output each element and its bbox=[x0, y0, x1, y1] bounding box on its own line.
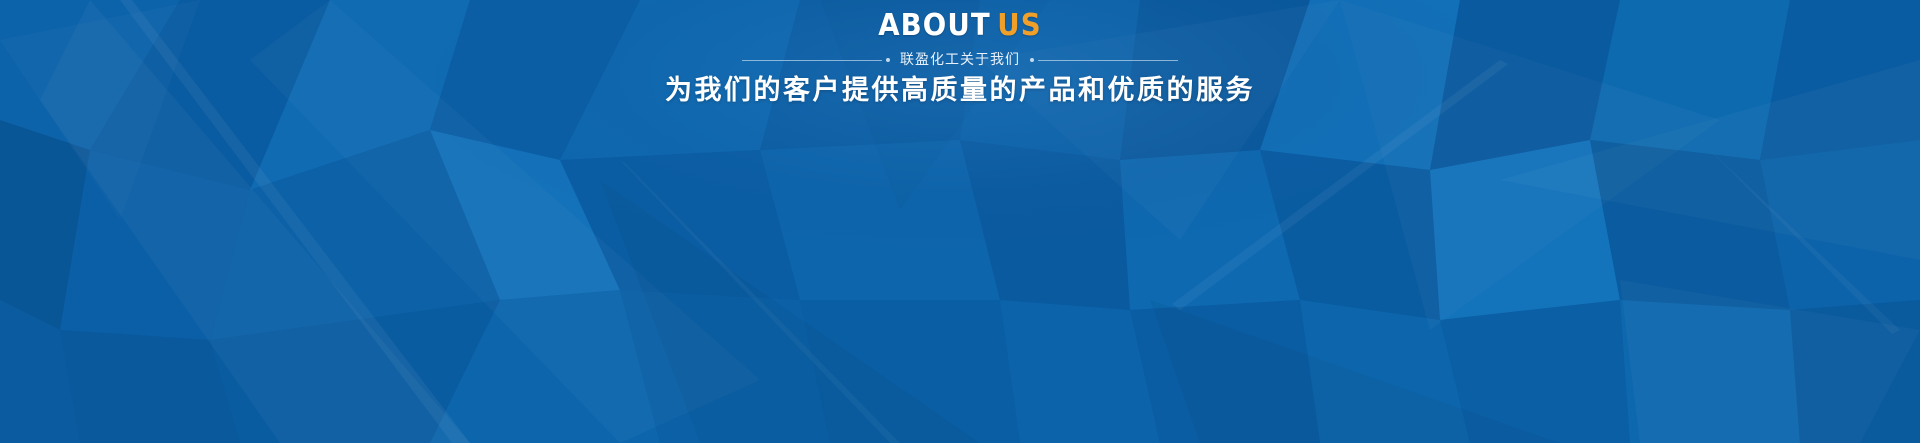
headline-text: 为我们的客户提供高质量的产品和优质的服务 bbox=[0, 74, 1920, 107]
page-title: ABOUTUS bbox=[77, 9, 1843, 43]
banner-content: ABOUTUS 联盈化工关于我们 为我们的客户提供高质量的产品和优质的服务 bbox=[0, 0, 1920, 107]
divider-line-left bbox=[742, 60, 882, 61]
divider-dot-left-icon bbox=[886, 58, 890, 62]
title-word-about: ABOUT bbox=[878, 8, 991, 43]
subtitle-text: 联盈化工关于我们 bbox=[900, 51, 1020, 69]
subtitle-divider-row: 联盈化工关于我们 bbox=[0, 51, 1920, 69]
title-word-us: US bbox=[997, 8, 1042, 43]
divider-dot-right-icon bbox=[1030, 58, 1034, 62]
divider-line-right bbox=[1038, 60, 1178, 61]
about-us-banner: ABOUTUS 联盈化工关于我们 为我们的客户提供高质量的产品和优质的服务 bbox=[0, 0, 1920, 443]
